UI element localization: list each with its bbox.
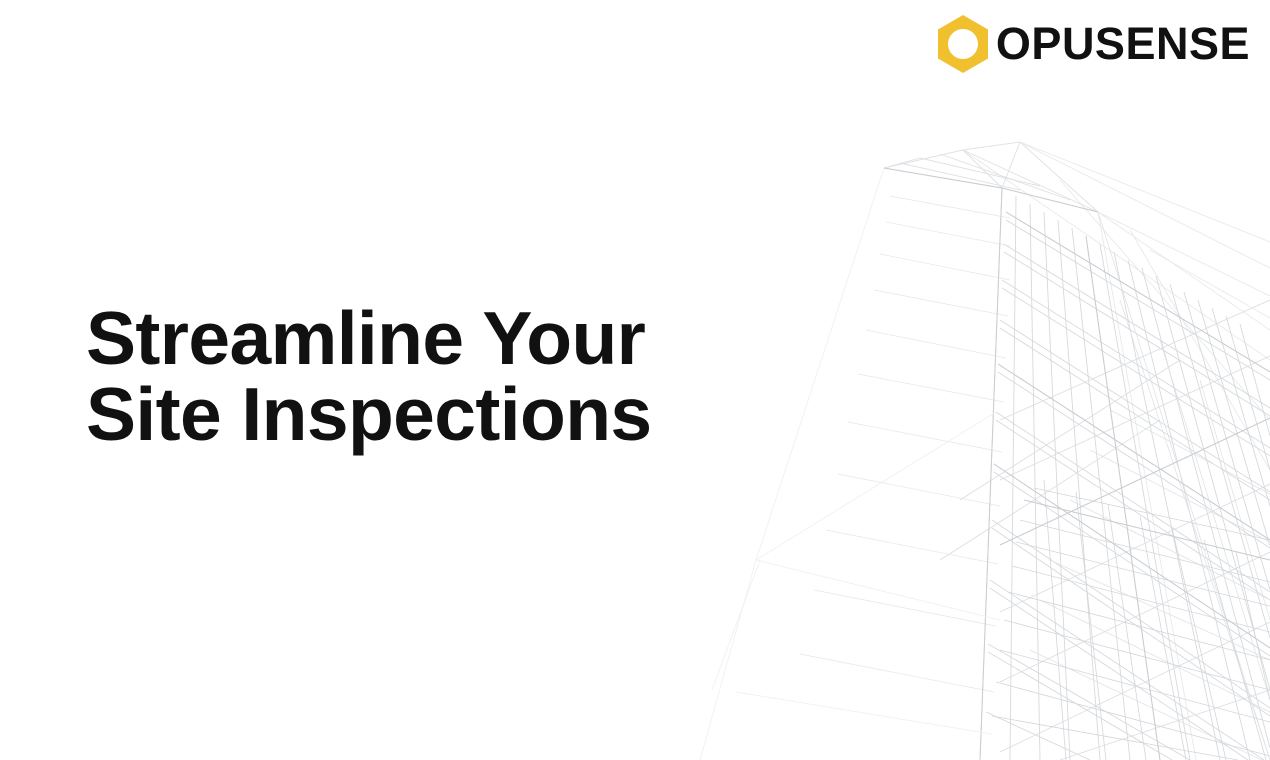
brand-logo-lockup[interactable]: OPUSENSE — [936, 14, 1250, 74]
page-title: Streamline Your Site Inspections — [86, 300, 652, 452]
headline-line-1: Streamline Your — [86, 300, 652, 376]
brand-wordmark: OPUSENSE — [996, 21, 1250, 68]
headline-line-2: Site Inspections — [86, 376, 652, 452]
hero-slide: OPUSENSE Streamline Your Site Inspection… — [0, 0, 1270, 760]
hexagon-ring-icon — [936, 14, 990, 74]
